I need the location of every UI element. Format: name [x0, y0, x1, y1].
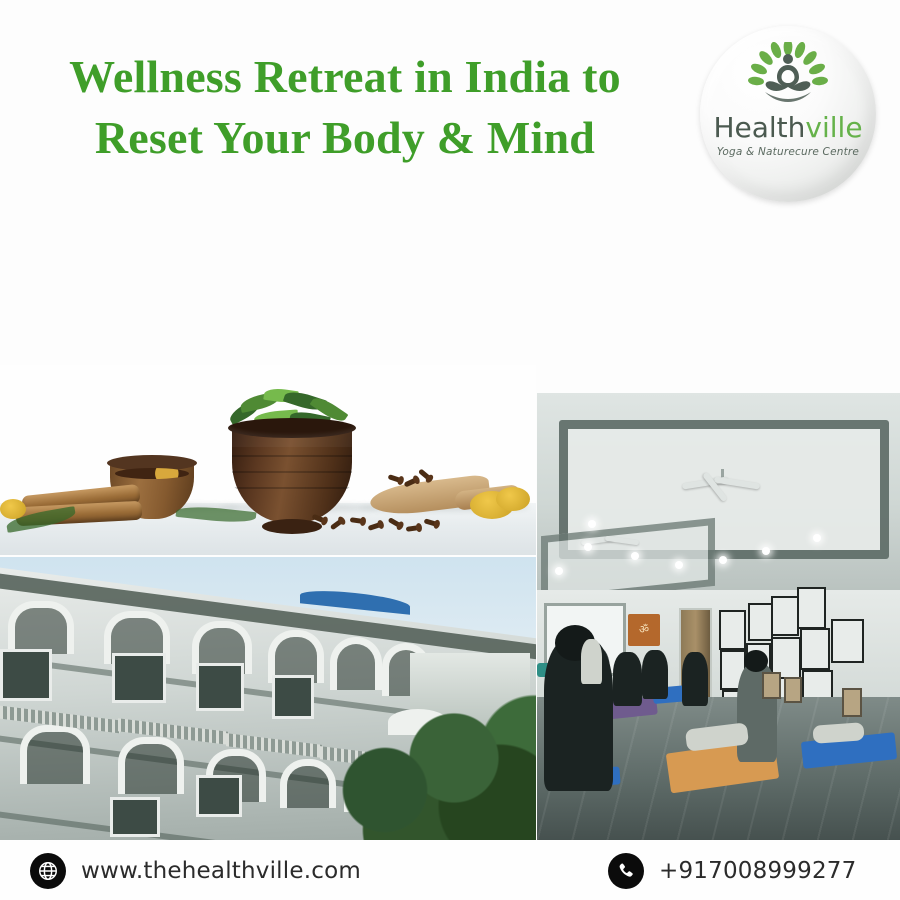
- person-head: [744, 650, 768, 672]
- balcony-arch: [330, 637, 382, 690]
- wall-photo-frame: [831, 619, 864, 663]
- website-url[interactable]: www.thehealthville.com: [81, 858, 361, 884]
- wall-photo-frame: [771, 596, 799, 636]
- window: [272, 675, 314, 719]
- person-silhouette: [581, 639, 603, 684]
- prop-bag: [784, 677, 803, 703]
- window: [0, 649, 52, 701]
- brand-logo-badge: Healthville Yoga & Naturecure Centre: [700, 26, 876, 202]
- image-collage: ॐ: [0, 365, 900, 840]
- headline-line-1: Wellness Retreat in India to: [69, 51, 621, 102]
- bowl-contents: [115, 468, 189, 479]
- trees: [316, 694, 536, 840]
- balcony-arch: [8, 601, 74, 654]
- phone-icon: [608, 853, 644, 889]
- turmeric-cluster: [496, 487, 530, 511]
- person-legs: [812, 722, 864, 743]
- wall-photo-frame: [748, 603, 774, 641]
- logo-word-health: Health: [713, 111, 805, 144]
- logo-word-ville: ville: [805, 111, 862, 144]
- wall-photo-frame: [800, 628, 829, 670]
- logo-tagline: Yoga & Naturecure Centre: [700, 146, 876, 158]
- balcony-arch: [118, 737, 184, 794]
- phone-contact[interactable]: +917008999277: [608, 853, 856, 889]
- yoga-hall-photo: ॐ: [537, 393, 900, 840]
- phone-number[interactable]: +917008999277: [659, 858, 856, 884]
- person-silhouette: [642, 650, 667, 699]
- wall-photo-frame: [719, 610, 747, 650]
- website-contact[interactable]: www.thehealthville.com: [30, 853, 361, 889]
- resort-building-photo: [0, 557, 536, 840]
- turmeric-cluster: [0, 499, 26, 519]
- prop-bag: [842, 688, 862, 717]
- om-painting: ॐ: [628, 614, 661, 645]
- clove: [388, 474, 402, 483]
- person-silhouette: [682, 652, 707, 706]
- window: [112, 653, 166, 703]
- wall-photo-frame: [797, 587, 826, 629]
- window: [196, 663, 244, 711]
- prop-bag: [762, 672, 781, 698]
- poster-canvas: Wellness Retreat in India to Reset Your …: [0, 0, 900, 900]
- clove: [406, 525, 420, 532]
- ayurvedic-herbs-photo: [0, 365, 536, 555]
- window: [110, 797, 160, 837]
- page-title: Wellness Retreat in India to Reset Your …: [0, 46, 690, 168]
- window: [196, 775, 242, 817]
- headline-line-2: Reset Your Body & Mind: [0, 107, 690, 168]
- contact-footer: www.thehealthville.com +917008999277 Pos…: [0, 840, 900, 900]
- meditating-figure-with-leaves-icon: [700, 42, 876, 113]
- person-silhouette: [613, 652, 642, 706]
- logo-wordmark: Healthville: [700, 114, 876, 142]
- clove: [418, 468, 431, 480]
- ceiling-fan-icon: [682, 478, 760, 488]
- globe-icon: [30, 853, 66, 889]
- balcony-arch: [20, 725, 90, 784]
